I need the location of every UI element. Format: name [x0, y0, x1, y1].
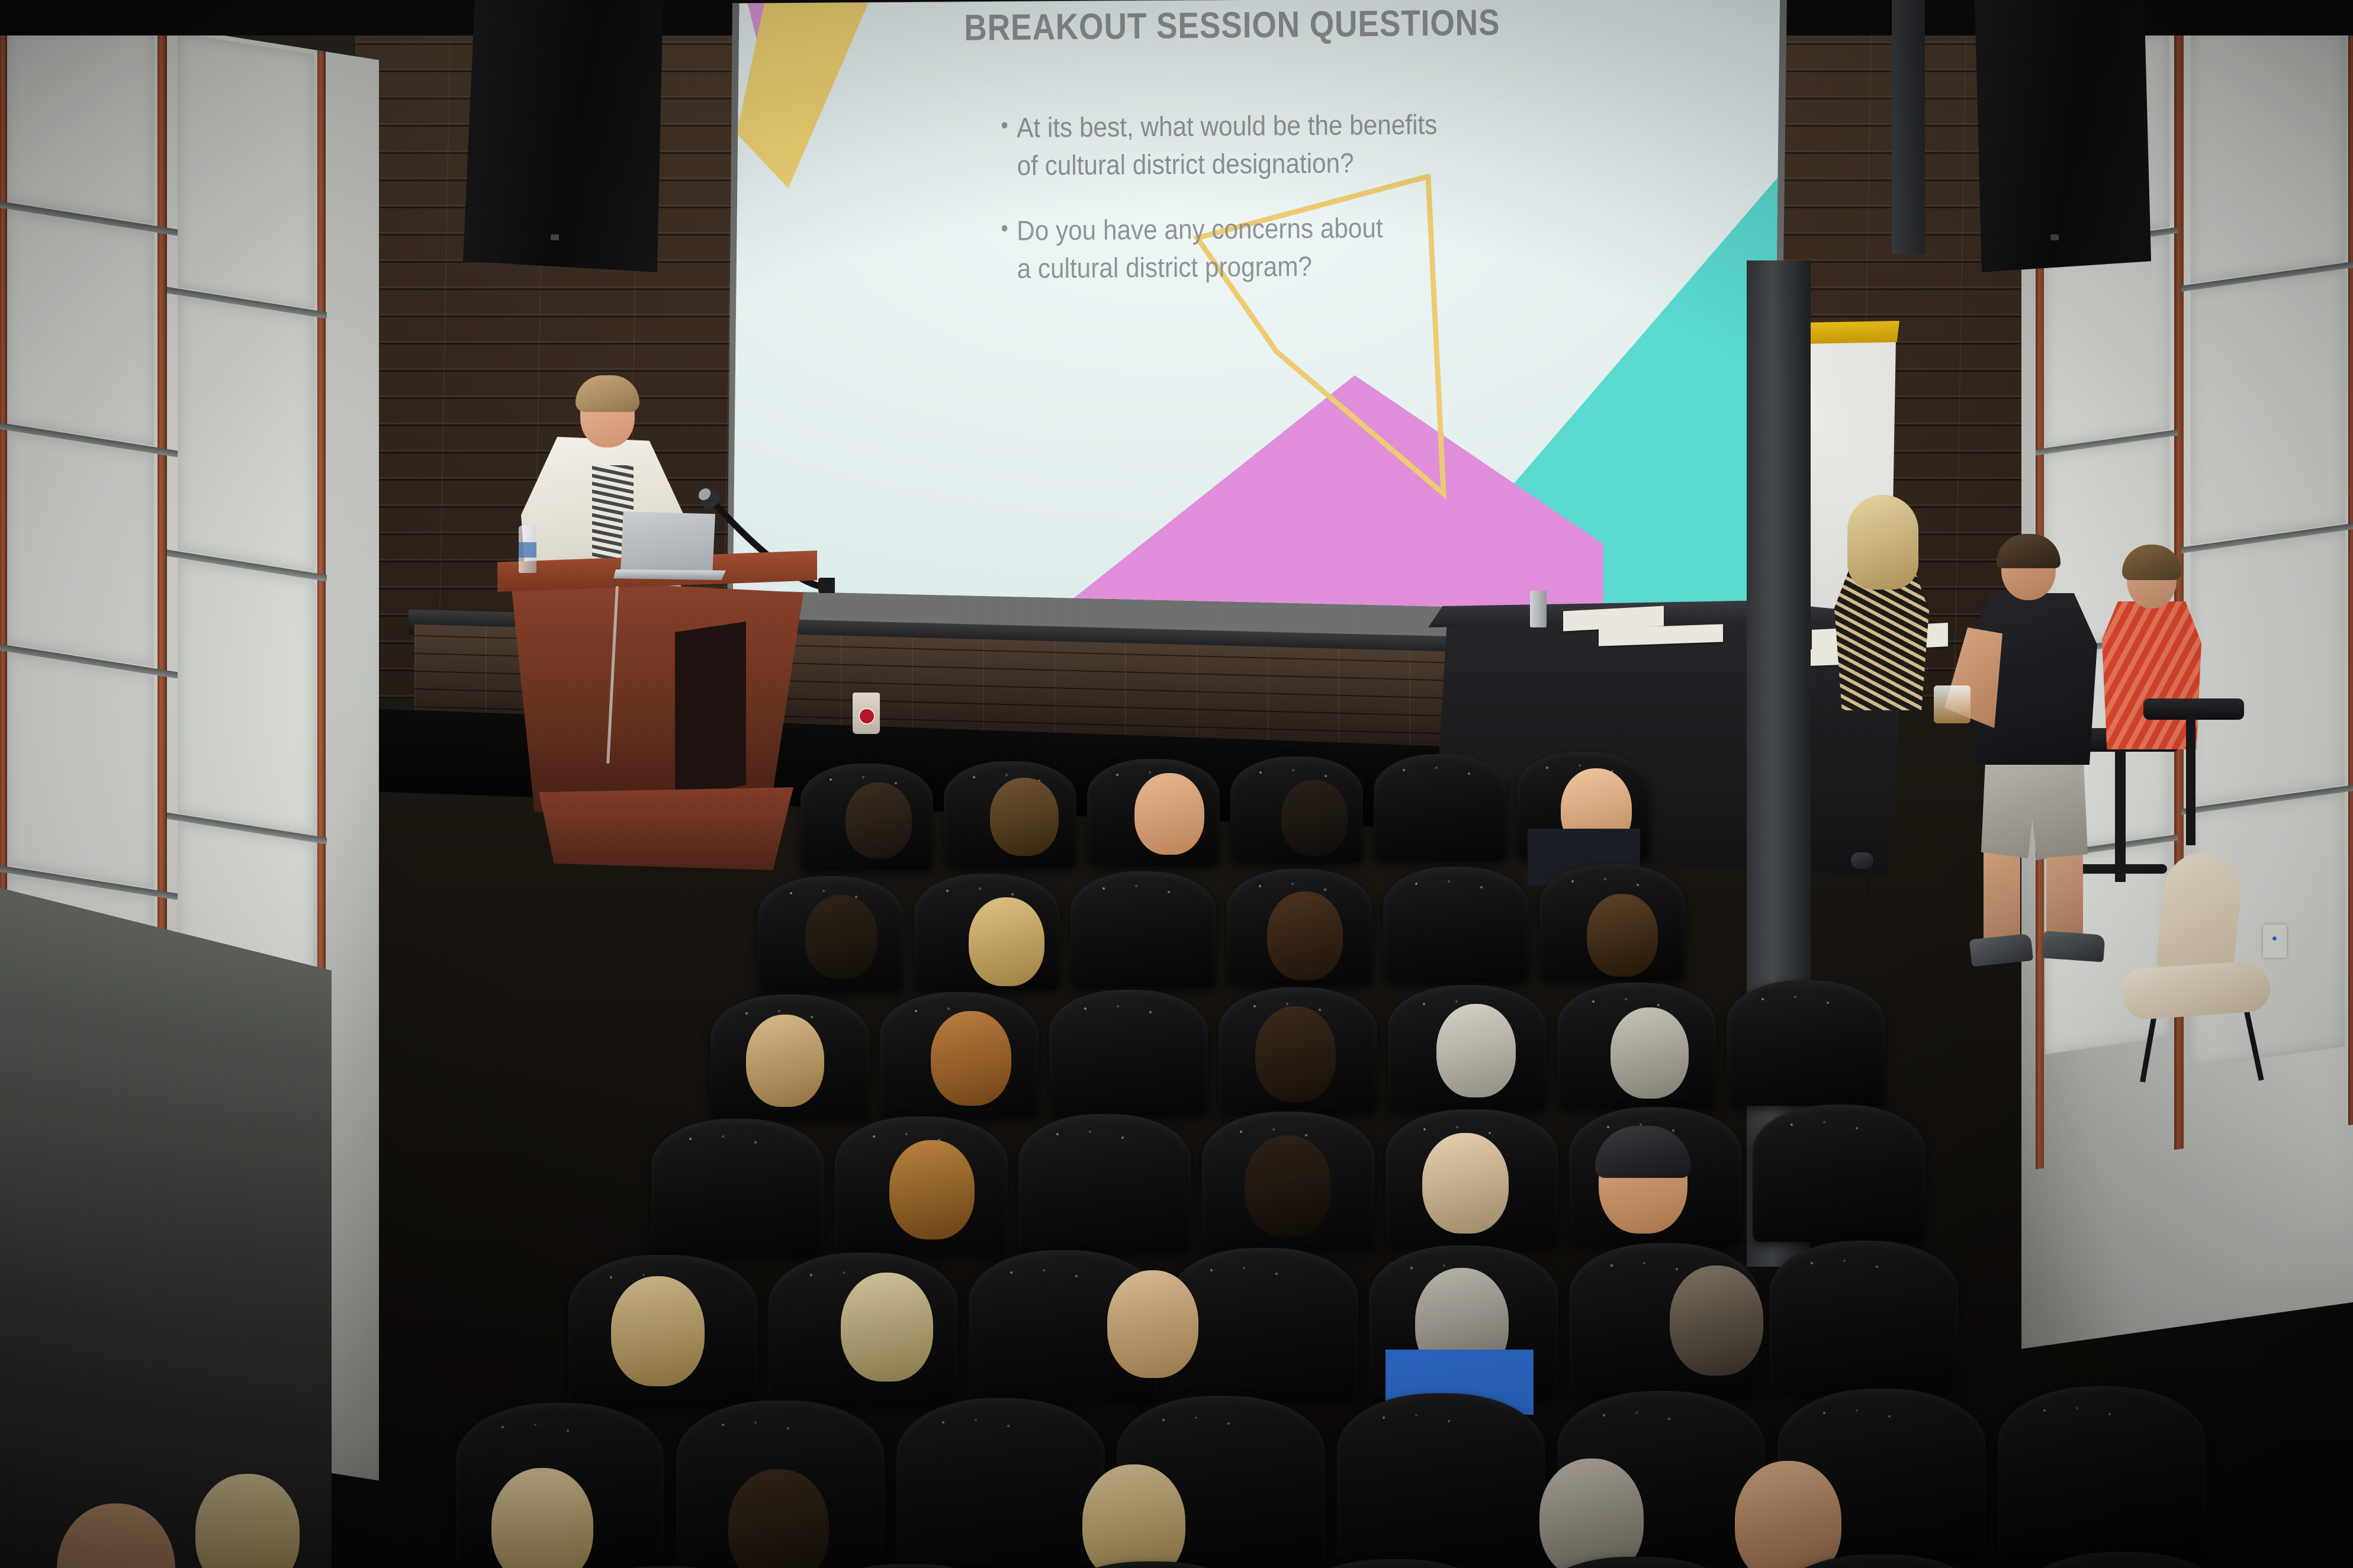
audience-head: [1735, 1461, 1841, 1568]
patterned-top: [1834, 568, 1929, 710]
audience-head: [1255, 1006, 1336, 1102]
audience-head: [931, 1011, 1011, 1106]
projection-screen: BREAKOUT SESSION QUESTIONS • At its best…: [733, 0, 1780, 636]
audience-head: [1587, 894, 1658, 977]
audience-head: [1422, 1133, 1509, 1234]
seat[interactable]: [1998, 1386, 2206, 1553]
audience-head: [846, 783, 912, 858]
slide-bullet-2: • Do you have any concerns about a cultu…: [1001, 207, 1598, 288]
presenter-hair: [576, 375, 639, 412]
audience-head: [491, 1468, 593, 1568]
pa-speaker-right-icon: [1975, 0, 2151, 272]
bullet-marker: •: [1001, 109, 1017, 142]
bullet-marker: •: [1001, 212, 1017, 245]
seat[interactable]: [1383, 867, 1529, 983]
slide-title: BREAKOUT SESSION QUESTIONS: [964, 1, 1550, 49]
audience-head: [195, 1474, 300, 1568]
slide-bullet-1: • At its best, what would be the benefit…: [1001, 104, 1598, 185]
audience-head: [1245, 1135, 1331, 1237]
audience-head: [1082, 1464, 1185, 1568]
seat[interactable]: [1071, 871, 1216, 987]
water-bottle-label: [519, 542, 536, 558]
laptop-base: [613, 569, 726, 580]
audience-head: [611, 1276, 705, 1386]
audience-head: [57, 1503, 175, 1568]
seat[interactable]: [1337, 1393, 1545, 1560]
slide-bullet-list: • At its best, what would be the benefit…: [1001, 109, 1664, 315]
orange-hair-spikes: [2079, 1564, 2229, 1568]
audience-head: [1267, 891, 1343, 980]
seat[interactable]: [1374, 754, 1506, 861]
seat[interactable]: [1049, 990, 1208, 1115]
right-dark-pillar: [1892, 0, 1925, 255]
bullet-text: At its best, what would be the benefits …: [1017, 105, 1438, 185]
audience-head: [969, 897, 1044, 986]
audience-head: [805, 895, 877, 979]
audience-head: [990, 778, 1059, 856]
audience-head: [728, 1469, 829, 1568]
seat[interactable]: [1769, 1241, 1959, 1392]
audience-head: [1436, 1004, 1516, 1097]
bullet-text: Do you have any concerns about a cultura…: [1017, 209, 1383, 288]
pa-speaker-left-icon: [463, 0, 663, 272]
auditorium-seating: [0, 704, 2353, 1568]
apple-logo-icon: [658, 537, 674, 555]
audience-head: [1611, 1007, 1689, 1099]
audience-head: [889, 1140, 975, 1239]
hair: [1847, 495, 1918, 590]
audience-head: [1670, 1266, 1763, 1376]
person-woman-patterned-top: [1824, 503, 1936, 716]
seat[interactable]: [1727, 980, 1885, 1106]
hair: [1997, 534, 2061, 568]
audience-head: [1107, 1270, 1198, 1378]
audience-head: [1281, 780, 1348, 856]
seat[interactable]: [651, 1119, 824, 1256]
beverage-can-icon: [1530, 591, 1547, 627]
audience-head: [746, 1015, 824, 1107]
seat[interactable]: [1753, 1105, 1926, 1242]
audience-head: [1539, 1458, 1644, 1568]
seat[interactable]: [896, 1398, 1105, 1565]
audience-head: [841, 1273, 933, 1382]
auditorium-photo: BREAKOUT SESSION QUESTIONS • At its best…: [0, 0, 2353, 1568]
seat[interactable]: [1018, 1114, 1191, 1251]
audience-head: [1134, 773, 1204, 855]
